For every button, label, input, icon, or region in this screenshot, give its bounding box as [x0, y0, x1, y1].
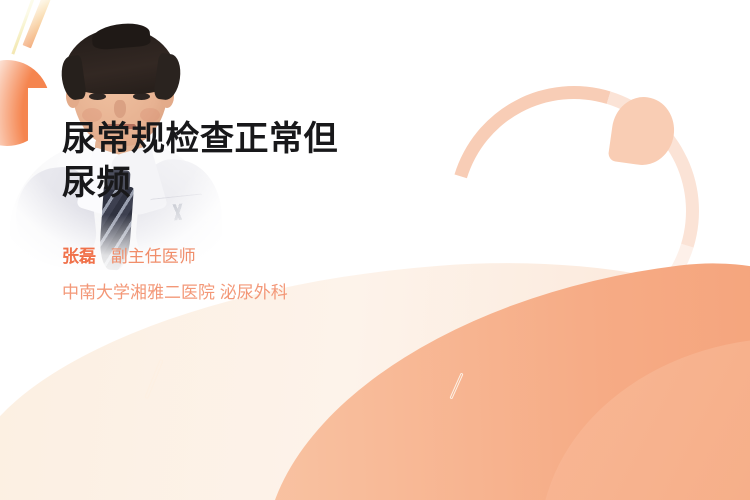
- doctor-meta: 张磊 副主任医师 中南大学湘雅二医院 泌尿外科: [62, 244, 422, 305]
- doctor-name: 张磊: [62, 247, 96, 266]
- doctor-name-row: 张磊 副主任医师: [62, 244, 422, 270]
- doctor-job-title: 副主任医师: [111, 247, 196, 266]
- arc-cap-decoration: [608, 93, 679, 169]
- doctor-info-card: 尿常规检查正常但 尿频 张磊 副主任医师 中南大学湘雅二医院 泌尿外科: [0, 0, 750, 500]
- text-content: 尿常规检查正常但 尿频 张磊 副主任医师 中南大学湘雅二医院 泌尿外科: [62, 118, 422, 305]
- faint-stripe-outline-icon-2: [449, 373, 463, 400]
- doctor-affiliation: 中南大学湘雅二医院 泌尿外科: [62, 280, 422, 306]
- page-title: 尿常规检查正常但 尿频: [62, 118, 422, 205]
- wave-blob-decoration: [467, 341, 750, 500]
- wave-salmon-secondary-decoration: [530, 329, 750, 500]
- faint-stripe-outline-icon-1: [144, 359, 163, 399]
- arc-ring-decoration: [405, 42, 743, 380]
